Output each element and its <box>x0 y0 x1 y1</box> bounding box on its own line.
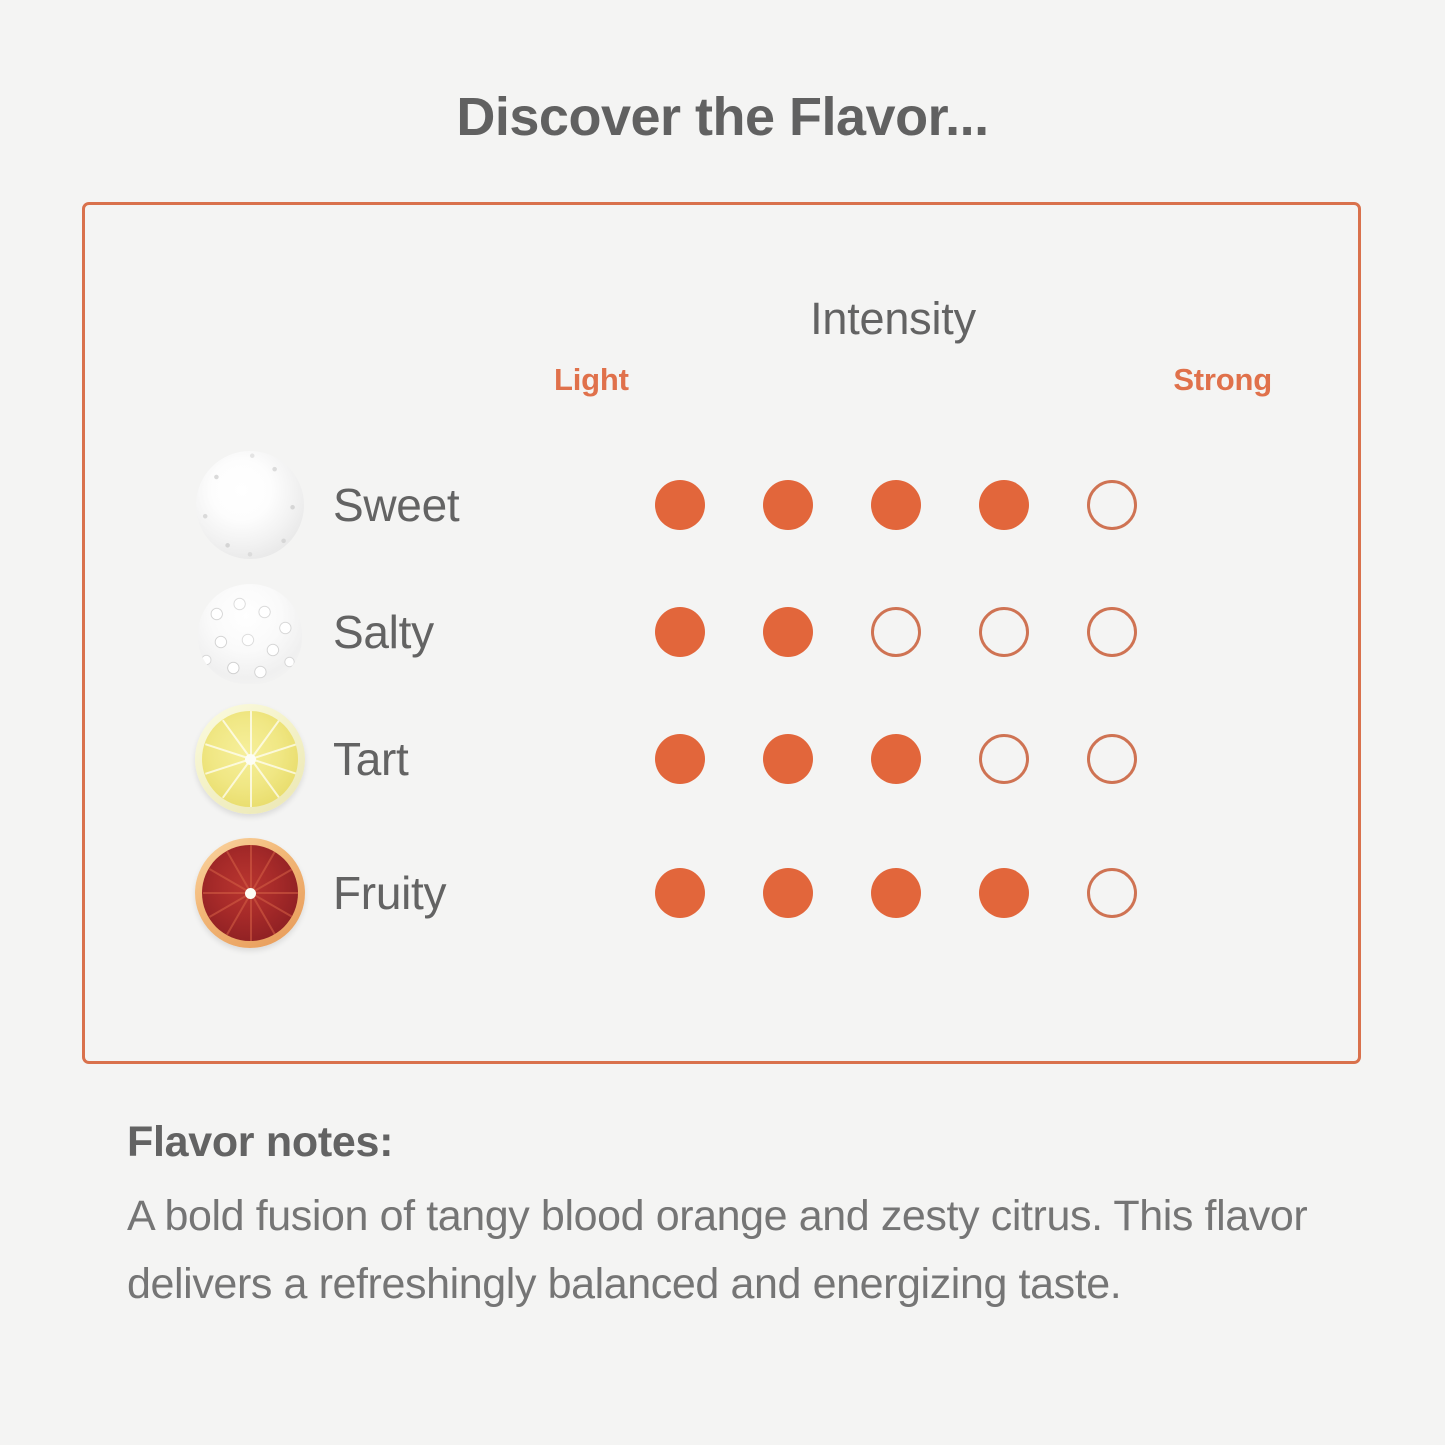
flavor-notes-body: A bold fusion of tangy blood orange and … <box>127 1182 1357 1318</box>
scale-min-label: Light <box>554 362 629 398</box>
intensity-dot-filled <box>979 480 1029 530</box>
flavor-notes-heading: Flavor notes: <box>127 1118 393 1167</box>
blood-orange-icon <box>190 833 310 953</box>
flavor-label: Sweet <box>333 478 459 532</box>
intensity-dot-filled <box>763 734 813 784</box>
flavor-label: Tart <box>333 732 408 786</box>
intensity-dot-track <box>655 833 1165 953</box>
intensity-dot-empty <box>871 607 921 657</box>
intensity-dot-empty <box>979 607 1029 657</box>
intensity-dot-filled <box>655 607 705 657</box>
intensity-dot-filled <box>763 868 813 918</box>
intensity-dot-filled <box>979 868 1029 918</box>
intensity-dot-filled <box>763 480 813 530</box>
intensity-dot-track <box>655 699 1165 819</box>
scale-max-label: Strong <box>1152 362 1272 398</box>
intensity-header: Intensity <box>593 293 1193 345</box>
intensity-dot-track <box>655 445 1165 565</box>
intensity-dot-empty <box>1087 734 1137 784</box>
intensity-dot-filled <box>871 868 921 918</box>
page-title: Discover the Flavor... <box>0 86 1445 148</box>
intensity-dot-track <box>655 572 1165 692</box>
intensity-dot-filled <box>871 480 921 530</box>
intensity-dot-filled <box>655 868 705 918</box>
sugar-icon <box>190 445 310 565</box>
intensity-dot-empty <box>979 734 1029 784</box>
flavor-label: Fruity <box>333 866 446 920</box>
intensity-dot-filled <box>655 480 705 530</box>
intensity-dot-empty <box>1087 480 1137 530</box>
intensity-dot-filled <box>655 734 705 784</box>
salt-icon <box>190 572 310 692</box>
lemon-slice-icon <box>190 699 310 819</box>
intensity-dot-filled <box>763 607 813 657</box>
intensity-dot-filled <box>871 734 921 784</box>
flavor-label: Salty <box>333 605 434 659</box>
intensity-dot-empty <box>1087 607 1137 657</box>
intensity-dot-empty <box>1087 868 1137 918</box>
